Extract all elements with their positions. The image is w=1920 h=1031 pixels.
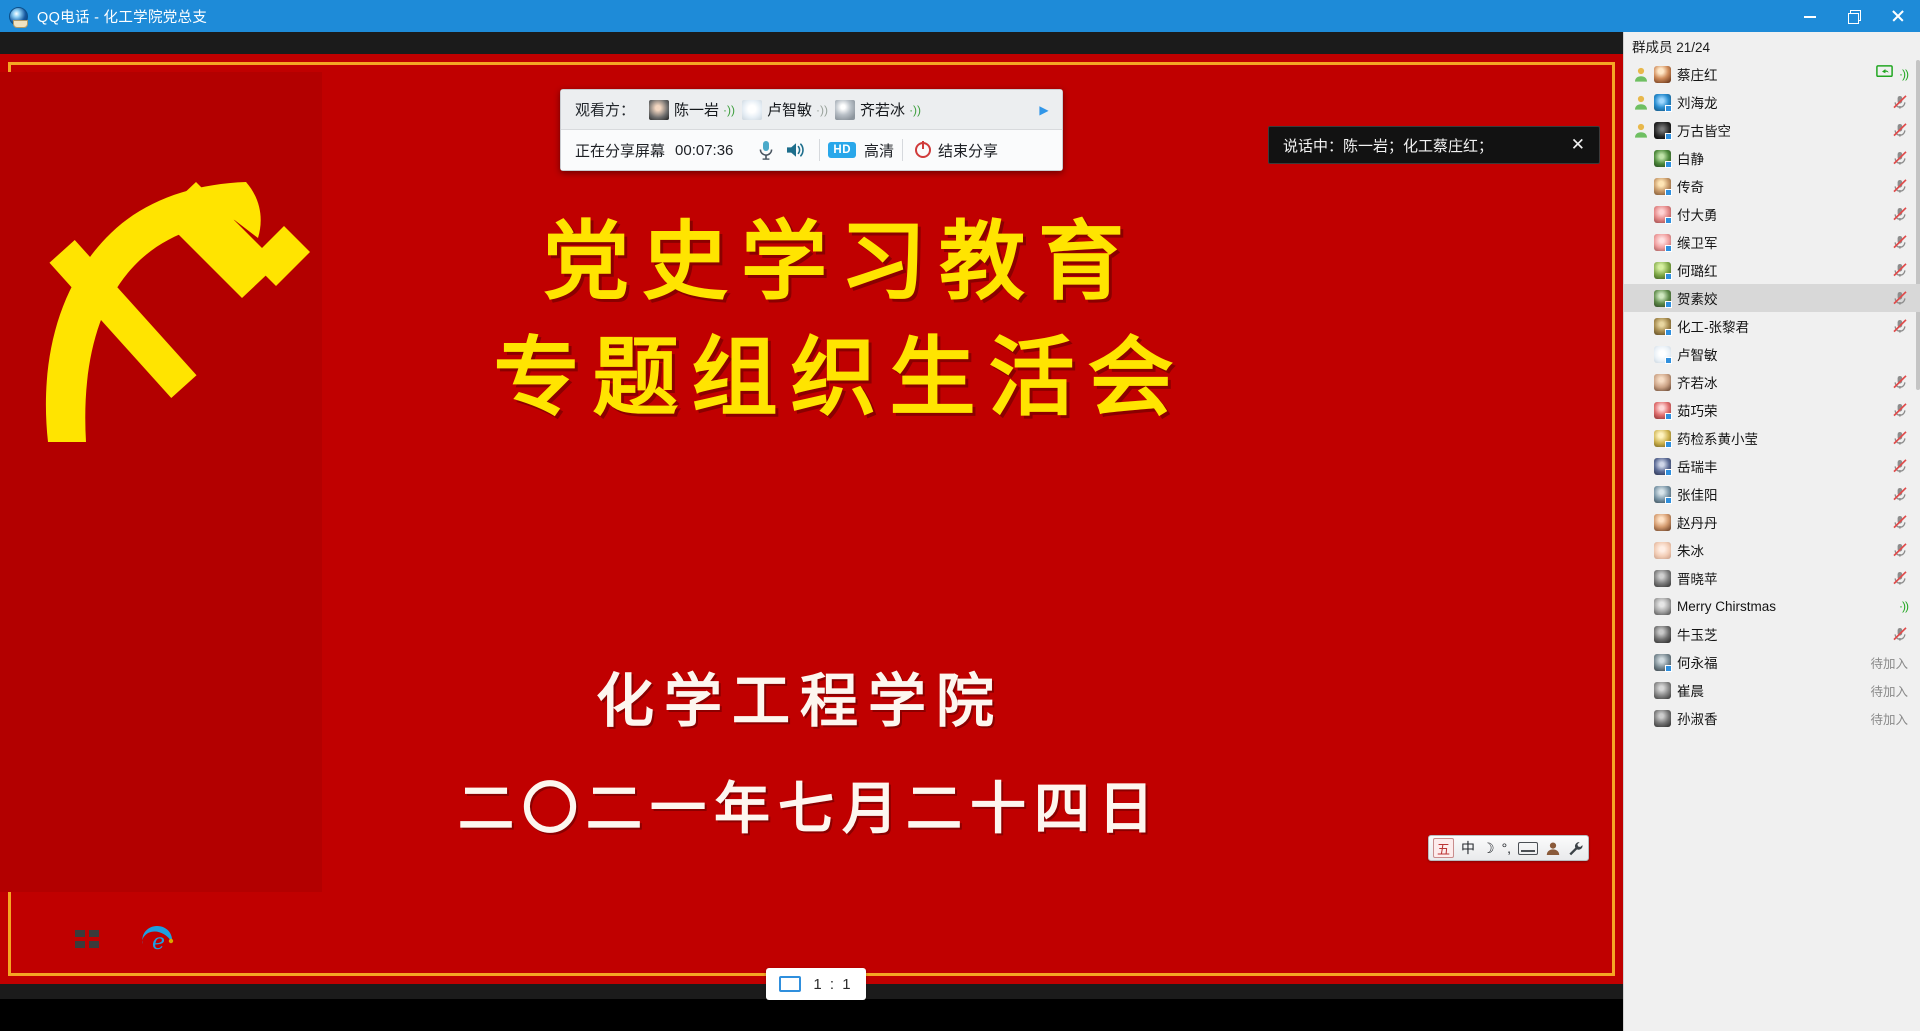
zoom-ratio-chip[interactable]: 1 : 1 (766, 968, 866, 1000)
divider (902, 139, 903, 161)
minimize-icon (1803, 9, 1817, 23)
viewer-avatar (649, 100, 669, 120)
member-name: 蔡庄红 (1677, 64, 1718, 84)
slide-title: 党史学习教育 专题组织生活会 (340, 204, 1340, 436)
microphone-icon[interactable] (751, 140, 781, 160)
member-name: 岳瑞丰 (1677, 456, 1718, 476)
microphone-muted-icon[interactable] (1892, 123, 1908, 137)
member-name: Merry Chirstmas (1677, 599, 1776, 614)
member-row[interactable]: 赵丹丹 (1624, 508, 1920, 536)
maximize-button[interactable] (1832, 0, 1876, 32)
avatar (1654, 682, 1671, 699)
qq-status-flag-icon (1665, 133, 1672, 140)
member-name: 化工-张黎君 (1677, 316, 1749, 336)
member-status (1892, 179, 1908, 193)
qq-camera-icon (9, 7, 28, 26)
avatar (1654, 374, 1671, 391)
member-status: 待加入 (1870, 709, 1908, 728)
window-title: QQ电话 - 化工学院党总支 (37, 6, 207, 27)
slide-date: 二〇二一年七月二十四日 (300, 764, 1320, 845)
member-name: 晋晓苹 (1677, 568, 1718, 588)
member-row[interactable]: Merry Chirstmas·)) (1624, 592, 1920, 620)
close-icon[interactable]: ✕ (1567, 135, 1589, 155)
avatar (1654, 234, 1671, 251)
avatar (1654, 458, 1671, 475)
member-status: ·)) (1876, 65, 1908, 84)
member-row[interactable]: 贺素姣 (1624, 284, 1920, 312)
member-name: 牛玉芝 (1677, 624, 1718, 644)
member-row[interactable]: 牛玉芝 (1624, 620, 1920, 648)
viewer-item-3[interactable]: 齐若冰 ·)) (835, 99, 921, 120)
avatar (1654, 570, 1671, 587)
member-row[interactable]: 缑卫军 (1624, 228, 1920, 256)
desktop-taskbar-icons: e (70, 922, 172, 956)
chevron-right-icon[interactable]: ▶ (1034, 90, 1054, 129)
qq-status-flag-icon (1665, 357, 1672, 364)
avatar (1654, 626, 1671, 643)
qq-status-flag-icon (1665, 245, 1672, 252)
svg-text:e: e (152, 930, 165, 955)
member-name: 白静 (1677, 148, 1704, 168)
viewer-name: 陈一岩 (674, 99, 719, 120)
slide-subtitle: 化学工程学院 (300, 654, 1300, 738)
member-row[interactable]: 蔡庄红·)) (1624, 60, 1920, 88)
avatar (1654, 290, 1671, 307)
member-row[interactable]: 传奇 (1624, 172, 1920, 200)
member-name: 传奇 (1677, 176, 1704, 196)
window-controls (1788, 0, 1920, 32)
microphone-muted-icon[interactable] (1892, 543, 1908, 557)
member-row[interactable]: 孙淑香待加入 (1624, 704, 1920, 732)
member-status (1892, 515, 1908, 529)
slide-title-line1: 党史学习教育 (340, 204, 1340, 320)
share-status-label: 正在分享屏幕 (575, 140, 665, 161)
member-row[interactable]: 药检系黄小莹 (1624, 424, 1920, 452)
member-status (1892, 319, 1908, 333)
app-icon-generic[interactable] (70, 922, 104, 956)
window-title-bar: QQ电话 - 化工学院党总支 (0, 0, 1920, 32)
member-row[interactable]: 齐若冰 (1624, 368, 1920, 396)
microphone-muted-icon[interactable] (1892, 403, 1908, 417)
microphone-muted-icon[interactable] (1892, 375, 1908, 389)
qq-status-flag-icon (1665, 469, 1672, 476)
member-name: 万古皆空 (1677, 120, 1731, 140)
speaking-toast-text: 说话中：陈一岩；化工蔡庄红； (1283, 135, 1567, 156)
speaking-icon: ·)) (723, 103, 735, 117)
qq-status-flag-icon (1665, 413, 1672, 420)
microphone-muted-icon[interactable] (1892, 487, 1908, 501)
viewer-avatar (742, 100, 762, 120)
viewer-avatar (835, 100, 855, 120)
member-row[interactable]: 白静 (1624, 144, 1920, 172)
maximize-icon (1847, 9, 1861, 23)
microphone-muted-icon[interactable] (1892, 571, 1908, 585)
speaking-icon: ·)) (1899, 599, 1908, 613)
member-name: 药检系黄小莹 (1677, 428, 1758, 448)
shared-screen-stage: 党史学习教育 专题组织生活会 化学工程学院 二〇二一年七月二十四日 e (0, 32, 1623, 999)
ime-toolbar[interactable]: 五 中 ☽ °, (1428, 835, 1589, 861)
members-list[interactable]: 蔡庄红·))刘海龙万古皆空白静传奇付大勇缑卫军何璐红贺素姣化工-张黎君卢智敏齐若… (1624, 60, 1920, 1031)
punctuation-icon[interactable]: °, (1502, 838, 1512, 858)
member-row[interactable]: 卢智敏 (1624, 340, 1920, 368)
member-status (1892, 431, 1908, 445)
speaking-icon: ·)) (1899, 67, 1908, 81)
speaking-icon: ·)) (909, 103, 921, 117)
zoom-ratio-label: 1 : 1 (813, 976, 852, 993)
member-name: 何璐红 (1677, 260, 1718, 280)
avatar (1654, 94, 1671, 111)
member-name: 缑卫军 (1677, 232, 1718, 252)
member-status (1892, 95, 1908, 109)
qq-status-flag-icon (1665, 301, 1672, 308)
member-row[interactable]: 岳瑞丰 (1624, 452, 1920, 480)
members-count-label: 群成员 21/24 (1632, 36, 1710, 56)
member-row[interactable]: 晋晓苹 (1624, 564, 1920, 592)
member-row[interactable]: 万古皆空 (1624, 116, 1920, 144)
avatar (1654, 486, 1671, 503)
avatar (1654, 710, 1671, 727)
viewers-row: 观看方： 陈一岩 ·)) 卢智敏 ·)) 齐若冰 ·)) ▶ (561, 90, 1062, 130)
wrench-icon[interactable] (1568, 838, 1584, 858)
member-status: 待加入 (1870, 653, 1908, 672)
qq-status-flag-icon (1665, 105, 1672, 112)
member-name: 崔晨 (1677, 680, 1704, 700)
microphone-muted-icon[interactable] (1892, 151, 1908, 165)
member-row[interactable]: 化工-张黎君 (1624, 312, 1920, 340)
viewer-item-2[interactable]: 卢智敏 ·)) (742, 99, 828, 120)
person-icon (1634, 95, 1650, 110)
person-icon (1634, 123, 1650, 138)
microphone-muted-icon[interactable] (1892, 207, 1908, 221)
microphone-muted-icon[interactable] (1892, 95, 1908, 109)
screen-share-control-bar: 观看方： 陈一岩 ·)) 卢智敏 ·)) 齐若冰 ·)) ▶ (560, 89, 1063, 171)
member-name: 茹巧荣 (1677, 400, 1718, 420)
member-name: 何永福 (1677, 652, 1718, 672)
avatar (1654, 178, 1671, 195)
member-row[interactable]: 张佳阳 (1624, 480, 1920, 508)
wubi-input-icon[interactable]: 五 (1433, 838, 1454, 858)
avatar (1654, 430, 1671, 447)
member-status (1892, 403, 1908, 417)
viewer-name: 齐若冰 (860, 99, 905, 120)
ccp-hammer-sickle-emblem (0, 72, 322, 892)
member-row[interactable]: 刘海龙 (1624, 88, 1920, 116)
avatar (1654, 542, 1671, 559)
member-status (1892, 123, 1908, 137)
microphone-muted-icon[interactable] (1892, 263, 1908, 277)
close-icon (1891, 9, 1905, 23)
soft-keyboard-icon[interactable] (1518, 838, 1538, 858)
qq-status-flag-icon (1665, 441, 1672, 448)
qq-status-flag-icon (1665, 329, 1672, 336)
presentation-slide: 党史学习教育 专题组织生活会 化学工程学院 二〇二一年七月二十四日 e (0, 54, 1623, 984)
avatar (1654, 514, 1671, 531)
qq-status-flag-icon (1665, 161, 1672, 168)
hd-badge: HD (828, 142, 856, 158)
qq-meeting-window: QQ电话 - 化工学院党总支 (0, 0, 1920, 1031)
avatar (1654, 206, 1671, 223)
member-status (1892, 375, 1908, 389)
microphone-muted-icon[interactable] (1892, 319, 1908, 333)
viewer-item-1[interactable]: 陈一岩 ·)) (649, 99, 735, 120)
close-button[interactable] (1876, 0, 1920, 32)
microphone-muted-icon[interactable] (1892, 515, 1908, 529)
member-name: 孙淑香 (1677, 708, 1718, 728)
qq-status-flag-icon (1665, 273, 1672, 280)
qq-status-flag-icon (1665, 217, 1672, 224)
divider (819, 139, 820, 161)
slide-title-line2: 专题组织生活会 (340, 320, 1340, 436)
avatar (1654, 122, 1671, 139)
avatar (1654, 346, 1671, 363)
viewers-label: 观看方： (575, 99, 635, 120)
member-row[interactable]: 何璐红 (1624, 256, 1920, 284)
qq-status-flag-icon (1665, 665, 1672, 672)
screen-share-icon (1876, 65, 1893, 84)
member-status (1892, 151, 1908, 165)
member-name: 付大勇 (1677, 204, 1718, 224)
chinese-mode-icon[interactable]: 中 (1461, 838, 1475, 858)
avatar (1654, 598, 1671, 615)
member-row[interactable]: 崔晨待加入 (1624, 676, 1920, 704)
avatar (1654, 402, 1671, 419)
member-name: 贺素姣 (1677, 288, 1718, 308)
speaker-icon[interactable] (781, 140, 811, 160)
member-status (1892, 571, 1908, 585)
member-name: 刘海龙 (1677, 92, 1718, 112)
minimize-button[interactable] (1788, 0, 1832, 32)
member-status (1892, 459, 1908, 473)
member-row[interactable]: 朱冰 (1624, 536, 1920, 564)
microphone-muted-icon[interactable] (1892, 235, 1908, 249)
group-members-panel: 群成员 21/24 蔡庄红·))刘海龙万古皆空白静传奇付大勇缑卫军何璐红贺素姣化… (1623, 32, 1920, 1031)
slide-frame: 党史学习教育 专题组织生活会 化学工程学院 二〇二一年七月二十四日 e (0, 54, 1623, 984)
member-name: 赵丹丹 (1677, 512, 1718, 532)
share-elapsed-time: 00:07:36 (675, 142, 733, 159)
avatar (1654, 150, 1671, 167)
member-status (1892, 543, 1908, 557)
member-status (1892, 263, 1908, 277)
member-status (1892, 487, 1908, 501)
microphone-muted-icon[interactable] (1892, 627, 1908, 641)
member-status (1892, 291, 1908, 305)
microphone-muted-icon[interactable] (1892, 431, 1908, 445)
speaking-icon: ·)) (816, 103, 828, 117)
microphone-muted-icon[interactable] (1892, 291, 1908, 305)
member-row[interactable]: 何永福待加入 (1624, 648, 1920, 676)
internet-explorer-icon[interactable]: e (138, 922, 172, 956)
member-status (1892, 207, 1908, 221)
member-row[interactable]: 付大勇 (1624, 200, 1920, 228)
member-status (1892, 627, 1908, 641)
member-status: ·)) (1899, 599, 1908, 613)
stop-share-button[interactable]: 结束分享 (938, 140, 998, 161)
qq-status-flag-icon (1665, 189, 1672, 196)
speaking-toast: 说话中：陈一岩；化工蔡庄红； ✕ (1268, 126, 1600, 164)
member-name: 张佳阳 (1677, 484, 1718, 504)
member-status: 待加入 (1870, 681, 1908, 700)
member-name: 卢智敏 (1677, 344, 1718, 364)
power-icon (915, 142, 931, 158)
avatar (1654, 66, 1671, 83)
members-header: 群成员 21/24 (1624, 32, 1920, 60)
member-name: 朱冰 (1677, 540, 1704, 560)
share-status-row: 正在分享屏幕 00:07:36 HD 高清 结束分享 (561, 130, 1062, 170)
pending-join-label: 待加入 (1870, 653, 1908, 672)
member-name: 齐若冰 (1677, 372, 1718, 392)
member-status (1892, 235, 1908, 249)
person-icon (1634, 67, 1650, 82)
microphone-muted-icon[interactable] (1892, 179, 1908, 193)
avatar (1654, 318, 1671, 335)
qq-status-flag-icon (1665, 497, 1672, 504)
pending-join-label: 待加入 (1870, 709, 1908, 728)
quality-label[interactable]: 高清 (864, 140, 894, 161)
member-row[interactable]: 茹巧荣 (1624, 396, 1920, 424)
user-icon[interactable] (1545, 838, 1561, 858)
microphone-muted-icon[interactable] (1892, 459, 1908, 473)
avatar (1654, 262, 1671, 279)
screen-rect-icon (779, 976, 801, 992)
half-moon-icon[interactable]: ☽ (1482, 838, 1495, 858)
avatar (1654, 654, 1671, 671)
pending-join-label: 待加入 (1870, 681, 1908, 700)
viewer-name: 卢智敏 (767, 99, 812, 120)
